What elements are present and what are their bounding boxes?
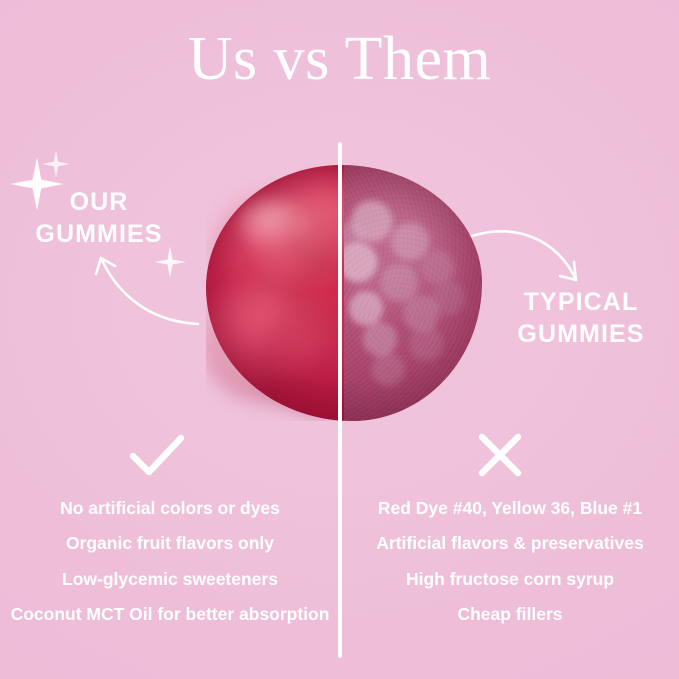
list-item: Low-glycemic sweeteners bbox=[6, 569, 334, 590]
typical-gummies-list: Red Dye #40, Yellow 36, Blue #1 Artifici… bbox=[346, 498, 674, 625]
curved-arrow-up-left-icon bbox=[86, 248, 206, 332]
our-gummies-list: No artificial colors or dyes Organic fru… bbox=[6, 498, 334, 625]
gummy-half-typical bbox=[344, 165, 482, 421]
our-gummies-label: OUR GUMMIES bbox=[6, 186, 192, 250]
sparkle-icon bbox=[42, 150, 70, 178]
our-gummies-label-line1: OUR bbox=[6, 186, 192, 218]
list-item: Artificial flavors & preservatives bbox=[346, 533, 674, 554]
list-item: Cheap fillers bbox=[346, 604, 674, 625]
comparison-graphic: Us vs Them OUR GUMMIES bbox=[0, 0, 679, 679]
our-gummies-label-line2: GUMMIES bbox=[6, 218, 192, 250]
gummy-half-ours bbox=[206, 165, 344, 421]
check-icon bbox=[128, 432, 186, 478]
x-icon bbox=[476, 432, 524, 478]
list-item: High fructose corn syrup bbox=[346, 569, 674, 590]
split-gummy-image bbox=[206, 165, 482, 421]
list-item: Organic fruit flavors only bbox=[6, 533, 334, 554]
list-item: Red Dye #40, Yellow 36, Blue #1 bbox=[346, 498, 674, 519]
list-item: Coconut MCT Oil for better absorption bbox=[6, 604, 334, 625]
curved-arrow-down-right-icon bbox=[466, 218, 596, 296]
vertical-divider bbox=[338, 142, 342, 658]
typical-gummies-label-line2: GUMMIES bbox=[486, 318, 676, 350]
list-item: No artificial colors or dyes bbox=[6, 498, 334, 519]
page-title: Us vs Them bbox=[0, 28, 679, 90]
